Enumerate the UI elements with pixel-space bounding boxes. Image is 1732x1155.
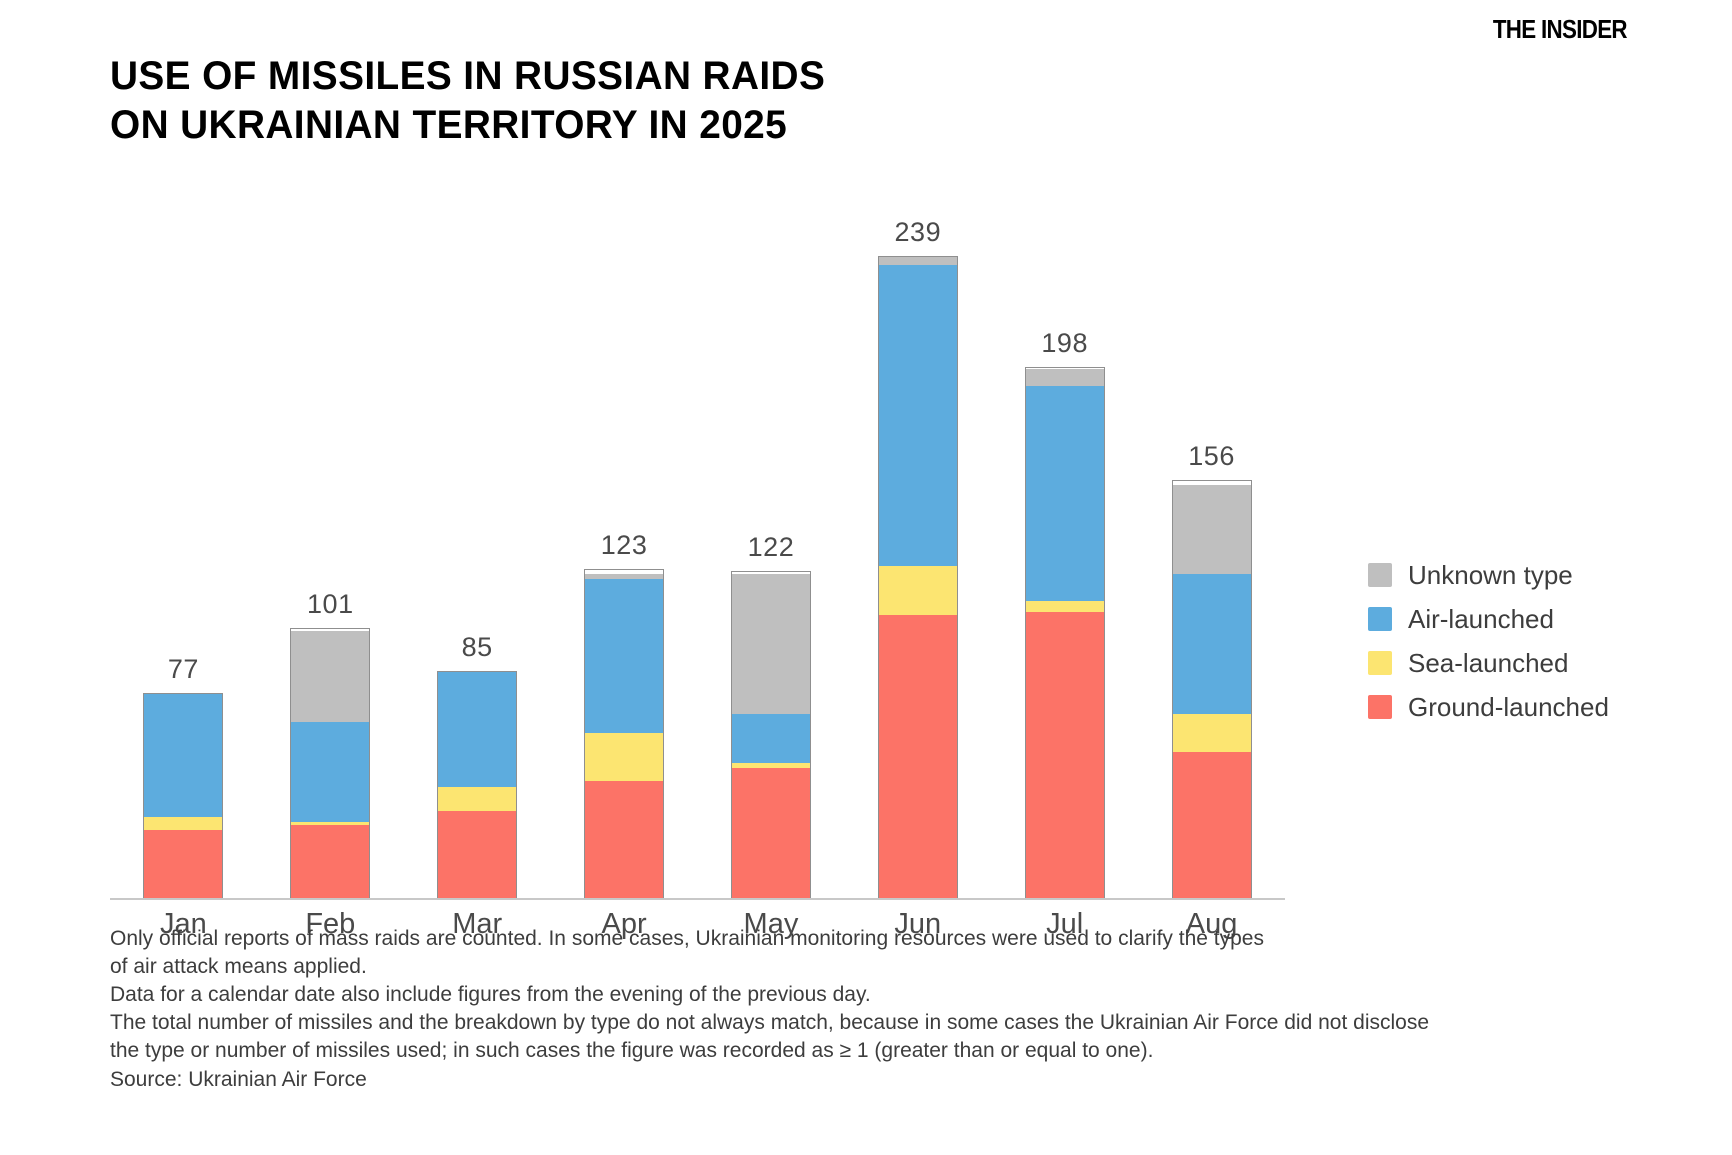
bar-segment-unknown-type[interactable]: [291, 631, 369, 723]
bar-segment-air-launched[interactable]: [585, 579, 663, 733]
bar-segment-air-launched[interactable]: [879, 265, 957, 566]
bar-stack[interactable]: [437, 671, 517, 900]
bar-total-label: 123: [551, 530, 698, 561]
bar-segment-ground-launched[interactable]: [732, 768, 810, 900]
bar-segment-ground-launched[interactable]: [144, 830, 222, 900]
bar-total-label: 85: [404, 632, 551, 663]
bar-stack[interactable]: [878, 256, 958, 900]
page-title: USE OF MISSILES IN RUSSIAN RAIDS ON UKRA…: [110, 52, 1625, 150]
bar-segment-ground-launched[interactable]: [1026, 612, 1104, 900]
bar-segment-sea-launched[interactable]: [585, 733, 663, 781]
footnote-line-1: Only official reports of mass raids are …: [110, 925, 1630, 981]
footnote-line-3: The total number of missiles and the bre…: [110, 1009, 1630, 1065]
bar-segment-air-launched[interactable]: [144, 694, 222, 817]
bar-stack[interactable]: [290, 628, 370, 900]
bar-slot-jan[interactable]: 77: [110, 200, 257, 900]
legend-swatch-ground-icon: [1368, 695, 1392, 719]
legend-label: Air-launched: [1408, 604, 1554, 635]
bar-stack[interactable]: [1025, 367, 1105, 900]
bar-total-label: 239: [844, 217, 991, 248]
bar-segment-unknown-type[interactable]: [879, 257, 957, 265]
bar-stack[interactable]: [584, 569, 664, 900]
source-line: Source: Ukrainian Air Force: [110, 1068, 367, 1092]
legend-item-ground[interactable]: Ground-launched: [1368, 685, 1678, 729]
bar-segment-ground-launched[interactable]: [879, 615, 957, 900]
chart-page: USE OF MISSILES IN RUSSIAN RAIDS ON UKRA…: [0, 0, 1732, 1155]
bar-segment-sea-launched[interactable]: [144, 817, 222, 830]
legend-swatch-air-icon: [1368, 607, 1392, 631]
bar-stack[interactable]: [143, 693, 223, 900]
legend-swatch-sea-icon: [1368, 651, 1392, 675]
footnotes: Only official reports of mass raids are …: [110, 925, 1630, 1065]
bar-segment-ground-launched[interactable]: [438, 811, 516, 900]
bar-segment-air-launched[interactable]: [291, 722, 369, 822]
chart-plot-area: 7710185123122239198156: [110, 200, 1285, 900]
bar-slot-feb[interactable]: 101: [257, 200, 404, 900]
legend-swatch-unknown-icon: [1368, 563, 1392, 587]
the-insider-logo: THE INSIDER: [1493, 14, 1627, 45]
legend-item-air[interactable]: Air-launched: [1368, 597, 1678, 641]
x-axis-line: [110, 898, 1285, 900]
bar-segment-air-launched[interactable]: [732, 714, 810, 762]
bar-stack[interactable]: [1172, 480, 1252, 900]
footnote-line-2: Data for a calendar date also include fi…: [110, 981, 1630, 1009]
bar-segment-air-launched[interactable]: [1173, 574, 1251, 714]
bar-slot-may[interactable]: 122: [698, 200, 845, 900]
bar-slot-jun[interactable]: 239: [844, 200, 991, 900]
legend-label: Ground-launched: [1408, 692, 1609, 723]
bar-segment-air-launched[interactable]: [1026, 386, 1104, 602]
bar-segment-ground-launched[interactable]: [1173, 752, 1251, 900]
legend-item-unknown[interactable]: Unknown type: [1368, 553, 1678, 597]
legend-item-sea[interactable]: Sea-launched: [1368, 641, 1678, 685]
bar-segment-unknown-type[interactable]: [1173, 485, 1251, 574]
bar-segment-sea-launched[interactable]: [879, 566, 957, 614]
bar-slot-jul[interactable]: 198: [991, 200, 1138, 900]
chart-legend: Unknown typeAir-launchedSea-launchedGrou…: [1368, 553, 1678, 729]
bar-segment-unknown-type[interactable]: [732, 574, 810, 714]
bar-segment-sea-launched[interactable]: [1026, 601, 1104, 612]
legend-label: Sea-launched: [1408, 648, 1568, 679]
bar-segment-ground-launched[interactable]: [291, 825, 369, 900]
bar-segment-ground-launched[interactable]: [585, 781, 663, 900]
bar-total-label: 77: [110, 654, 257, 685]
bar-total-label: 101: [257, 589, 404, 620]
bar-segment-air-launched[interactable]: [438, 672, 516, 787]
legend-label: Unknown type: [1408, 560, 1573, 591]
bar-segment-sea-launched[interactable]: [438, 787, 516, 811]
bar-segment-sea-launched[interactable]: [1173, 714, 1251, 752]
bar-slot-mar[interactable]: 85: [404, 200, 551, 900]
bar-segment-unknown-type[interactable]: [1026, 369, 1104, 385]
bar-slot-apr[interactable]: 123: [551, 200, 698, 900]
bar-total-label: 156: [1138, 441, 1285, 472]
bar-group: 7710185123122239198156: [110, 200, 1285, 900]
bar-total-label: 122: [698, 532, 845, 563]
bar-slot-aug[interactable]: 156: [1138, 200, 1285, 900]
header: USE OF MISSILES IN RUSSIAN RAIDS ON UKRA…: [110, 52, 1672, 162]
bar-stack[interactable]: [731, 571, 811, 900]
bar-total-label: 198: [991, 328, 1138, 359]
